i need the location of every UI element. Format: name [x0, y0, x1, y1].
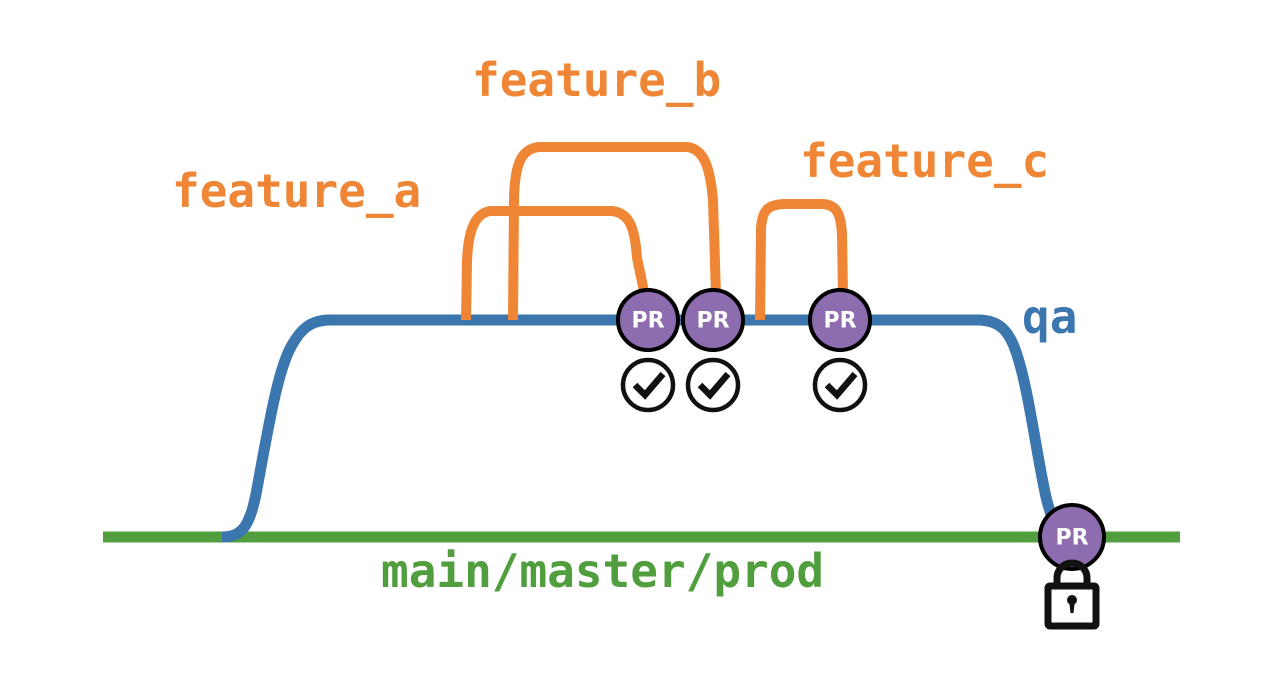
branch-label-qa: qa: [1022, 294, 1077, 340]
branch-label-feature-a: feature_a: [172, 168, 421, 214]
check-circle-icon: [688, 360, 738, 410]
pr-node-qa-to-main[interactable]: PR: [1040, 505, 1104, 569]
check-circle-icon: [815, 360, 865, 410]
qa-branch-line: [222, 320, 1072, 537]
pr-node-label: PR: [696, 309, 729, 334]
branch-label-main: main/master/prod: [381, 548, 824, 594]
branch-label-feature-c: feature_c: [800, 138, 1049, 184]
git-branching-diagram: PR PR PR PR: [0, 0, 1288, 678]
feature-b-branch-line: [513, 147, 716, 320]
pr-node-label: PR: [1055, 526, 1088, 551]
lock-icon: [1048, 563, 1096, 626]
pr-node-feature-b[interactable]: PR: [683, 290, 743, 350]
pr-node-feature-c[interactable]: PR: [810, 290, 870, 350]
pr-node-label: PR: [631, 309, 664, 334]
check-circle-icon: [623, 360, 673, 410]
pr-node-feature-a[interactable]: PR: [618, 290, 678, 350]
feature-a-branch-line: [466, 211, 645, 320]
pr-node-label: PR: [823, 309, 856, 334]
branch-label-feature-b: feature_b: [472, 57, 721, 103]
